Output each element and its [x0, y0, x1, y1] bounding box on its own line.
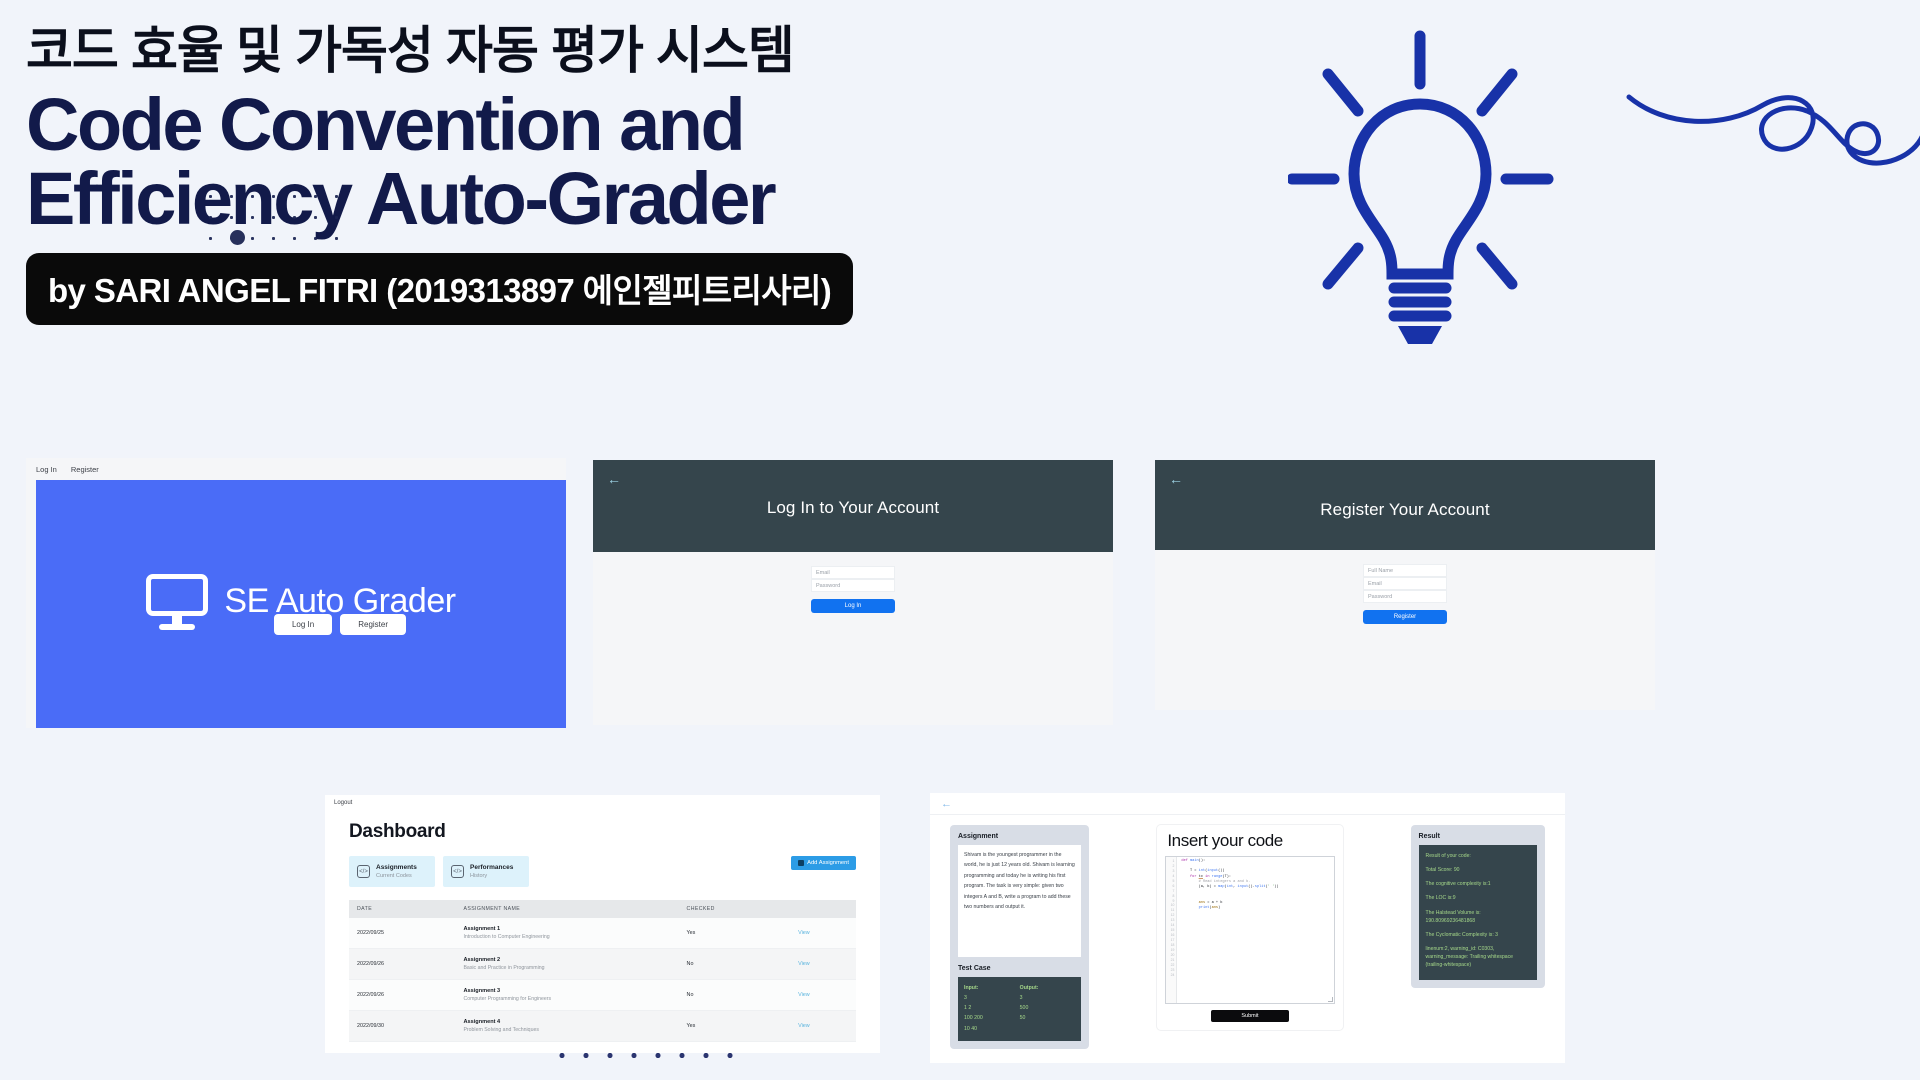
card-subtitle: History: [470, 873, 513, 879]
editor-topnav: ←: [930, 793, 1565, 815]
monitor-base: [159, 624, 195, 630]
view-link[interactable]: View: [798, 1023, 810, 1029]
english-title-line1: Code Convention and: [26, 85, 1246, 165]
result-total-score: Total Score: 90: [1426, 866, 1530, 874]
cell-action: View: [790, 918, 856, 949]
author-byline: by SARI ANGEL FITRI (2019313897 에인젤피트리사리…: [26, 253, 853, 325]
cell-checked: Yes: [679, 918, 791, 949]
assignments-table-head: DATE ASSIGNMENT NAME CHECKED: [349, 900, 856, 918]
arrow-left-icon[interactable]: ←: [607, 472, 621, 486]
cell-date: 2022/09/26: [349, 949, 455, 980]
code-content[interactable]: def main(): T = int(input()) for tc in r…: [1177, 857, 1333, 1003]
landing-topnav: Log In Register: [26, 458, 566, 480]
byline-wrapper: by SARI ANGEL FITRI (2019313897 에인젤피트리사리…: [26, 253, 1246, 325]
testcase-input-2: 100 200: [964, 1013, 1020, 1023]
assignment-name: Assignment 4: [463, 1019, 678, 1025]
register-password-field[interactable]: Password: [1363, 590, 1447, 603]
table-row[interactable]: 2022/09/25 Assignment 1 Introduction to …: [349, 918, 856, 949]
cell-name: Assignment 1 Introduction to Computer En…: [455, 918, 678, 949]
code-box-icon: </>: [357, 865, 370, 878]
cell-date: 2022/09/30: [349, 1011, 455, 1042]
dashboard-card-performances[interactable]: </> Performances History: [443, 856, 529, 887]
editor-columns: Assignment Shivam is the youngest progra…: [930, 815, 1565, 1049]
view-link[interactable]: View: [798, 961, 810, 967]
screenshot-code-editor-page: ← Assignment Shivam is the youngest prog…: [930, 793, 1565, 1063]
col-header-date: DATE: [349, 900, 455, 918]
monitor-icon: [146, 574, 208, 630]
result-warning: linenum:2, warning_id: C0303, warning_me…: [1426, 945, 1530, 969]
cell-name: Assignment 4 Problem Solving and Techniq…: [455, 1011, 678, 1042]
code-editor-card: Insert your code 1 2 3 4 5 6 7 8 9 10 11…: [1157, 825, 1342, 1030]
monitor-stand: [172, 616, 182, 624]
testcase-output-label: Output:: [1020, 983, 1076, 993]
plus-icon: [798, 860, 804, 866]
page-title: Dashboard: [349, 821, 856, 843]
landing-register-button[interactable]: Register: [340, 614, 406, 635]
register-fullname-field[interactable]: Full Name: [1363, 564, 1447, 577]
landing-login-button[interactable]: Log In: [274, 614, 332, 635]
screenshot-login-page: ← Log In to Your Account Email Password …: [593, 460, 1113, 725]
cell-action: View: [790, 1011, 856, 1042]
testcase-grid: Input: 3 1 2 100 200 10 40 Output: 3 500…: [964, 983, 1075, 1034]
testcase-output-0: 3: [1020, 993, 1076, 1003]
editor-right-column: Result Result of your code: Total Score:…: [1411, 825, 1545, 1049]
dashboard-card-assignments[interactable]: </> Assignments Current Codes: [349, 856, 435, 887]
card-subtitle: Current Codes: [376, 873, 417, 879]
landing-hero-buttons: Log In Register: [274, 614, 406, 635]
testcase-input-0: 3: [964, 993, 1020, 1003]
cell-checked: No: [679, 980, 791, 1011]
testcase-heading: Test Case: [958, 965, 1081, 972]
result-box: Result of your code: Total Score: 90 The…: [1419, 845, 1537, 980]
arrow-left-icon[interactable]: ←: [930, 793, 1565, 810]
code-line-numbers: 1 2 3 4 5 6 7 8 9 10 11 12 13 14 15 16 1…: [1166, 857, 1177, 1003]
landing-hero-inner: SE Auto Grader Log In Register: [146, 574, 455, 635]
col-header-name: ASSIGNMENT NAME: [455, 900, 678, 918]
cell-action: View: [790, 980, 856, 1011]
landing-nav-login[interactable]: Log In: [36, 465, 57, 474]
assignments-table: DATE ASSIGNMENT NAME CHECKED 2022/09/25 …: [349, 900, 856, 1042]
result-card: Result Result of your code: Total Score:…: [1411, 825, 1545, 988]
screenshot-dashboard-page: Logout Dashboard </> Assignments Current…: [325, 795, 880, 1053]
dashboard-logout-link[interactable]: Logout: [334, 800, 352, 806]
assignments-table-body: 2022/09/25 Assignment 1 Introduction to …: [349, 918, 856, 1042]
result-halstead-volume: The Halstead Volume is: 190.809692364818…: [1426, 909, 1530, 925]
monitor-screen: [146, 574, 208, 616]
login-header-bar: ← Log In to Your Account: [593, 460, 1113, 552]
screenshot-landing-page: Log In Register SE Auto Grader Log In Re…: [26, 458, 566, 728]
code-editor-area[interactable]: 1 2 3 4 5 6 7 8 9 10 11 12 13 14 15 16 1…: [1165, 856, 1334, 1004]
testcase-output-2: 50: [1020, 1013, 1076, 1023]
col-header-action: [790, 900, 856, 918]
card-title: Performances: [470, 864, 513, 871]
cell-checked: Yes: [679, 1011, 791, 1042]
code-box-icon: </>: [451, 865, 464, 878]
result-intro: Result of your code:: [1426, 852, 1530, 860]
cell-date: 2022/09/25: [349, 918, 455, 949]
landing-hero: SE Auto Grader Log In Register: [36, 480, 566, 728]
view-link[interactable]: View: [798, 930, 810, 936]
assignment-name: Assignment 2: [463, 957, 678, 963]
assignment-card: Assignment Shivam is the youngest progra…: [950, 825, 1089, 1049]
assignment-desc: Basic and Practice in Programming: [463, 965, 678, 971]
testcase-input-column: Input: 3 1 2 100 200 10 40: [964, 983, 1020, 1034]
login-email-field[interactable]: Email: [811, 566, 895, 579]
register-heading: Register Your Account: [1155, 460, 1655, 520]
testcase-box: Input: 3 1 2 100 200 10 40 Output: 3 500…: [958, 977, 1081, 1041]
card-title: Assignments: [376, 864, 417, 871]
code-editor-title: Insert your code: [1167, 831, 1334, 851]
result-heading: Result: [1419, 833, 1537, 840]
testcase-input-3: 10 40: [964, 1024, 1020, 1034]
cell-date: 2022/09/26: [349, 980, 455, 1011]
lightbulb-icon: [1288, 26, 1588, 361]
register-email-field[interactable]: Email: [1363, 577, 1447, 590]
assignment-desc: Problem Solving and Techniques: [463, 1027, 678, 1033]
editor-center-column: Insert your code 1 2 3 4 5 6 7 8 9 10 11…: [1157, 825, 1342, 1049]
testcase-output-column: Output: 3 500 50: [1020, 983, 1076, 1034]
dashboard-body: Dashboard </> Assignments Current Codes …: [325, 821, 880, 1042]
register-header-bar: ← Register Your Account: [1155, 460, 1655, 550]
add-assignment-label: Add Assignment: [807, 860, 849, 866]
col-header-checked: CHECKED: [679, 900, 791, 918]
accent-dot: [230, 230, 245, 245]
editor-left-column: Assignment Shivam is the youngest progra…: [950, 825, 1089, 1049]
resize-handle[interactable]: [1328, 997, 1333, 1002]
arrow-left-icon[interactable]: ←: [1169, 472, 1183, 486]
add-assignment-button[interactable]: Add Assignment: [791, 856, 856, 870]
dot-grid-decoration: [200, 186, 350, 248]
dashboard-cards: </> Assignments Current Codes </> Perfor…: [349, 856, 856, 887]
cell-name: Assignment 3 Computer Programming for En…: [455, 980, 678, 1011]
login-heading: Log In to Your Account: [593, 460, 1113, 518]
testcase-output-1: 500: [1020, 1003, 1076, 1013]
cell-checked: No: [679, 949, 791, 980]
screenshot-register-page: ← Register Your Account Full Name Email …: [1155, 460, 1655, 710]
table-row[interactable]: 2022/09/30 Assignment 4 Problem Solving …: [349, 1011, 856, 1042]
assignment-text-box: Shivam is the youngest programmer in the…: [958, 845, 1081, 957]
register-form: Full Name Email Password Register: [1363, 564, 1447, 624]
result-cyclomatic-complexity: The Cyclomatic Complexity is: 3: [1426, 931, 1530, 939]
register-submit-button[interactable]: Register: [1363, 610, 1447, 624]
testcase-input-1: 1 2: [964, 1003, 1020, 1013]
cell-name: Assignment 2 Basic and Practice in Progr…: [455, 949, 678, 980]
assignment-desc: Computer Programming for Engineers: [463, 996, 678, 1002]
login-form: Email Password Log In: [811, 566, 895, 613]
assignment-name: Assignment 1: [463, 926, 678, 932]
assignment-text: Shivam is the youngest programmer in the…: [964, 850, 1075, 912]
poster-header: 코드 효율 및 가독성 자동 평가 시스템 Code Convention an…: [26, 22, 1246, 325]
view-link[interactable]: View: [798, 992, 810, 998]
login-submit-button[interactable]: Log In: [811, 599, 895, 613]
result-cognitive-complexity: The cognitive complexity is:1: [1426, 880, 1530, 888]
poster-canvas: 코드 효율 및 가독성 자동 평가 시스템 Code Convention an…: [0, 0, 1920, 1080]
testcase-input-label: Input:: [964, 983, 1020, 993]
korean-title: 코드 효율 및 가독성 자동 평가 시스템: [26, 22, 1246, 79]
assignment-desc: Introduction to Computer Engineering: [463, 934, 678, 940]
swirl-decoration: [1625, 85, 1920, 220]
dashboard-topnav: Logout: [325, 795, 880, 813]
result-loc: The LOC is:9: [1426, 894, 1530, 902]
table-row[interactable]: 2022/09/26 Assignment 2 Basic and Practi…: [349, 949, 856, 980]
assignment-heading: Assignment: [958, 833, 1081, 840]
table-header-row: DATE ASSIGNMENT NAME CHECKED: [349, 900, 856, 918]
cell-action: View: [790, 949, 856, 980]
assignment-name: Assignment 3: [463, 988, 678, 994]
landing-nav-register[interactable]: Register: [71, 465, 99, 474]
submit-button[interactable]: Submit: [1211, 1010, 1289, 1022]
table-row[interactable]: 2022/09/26 Assignment 3 Computer Program…: [349, 980, 856, 1011]
login-password-field[interactable]: Password: [811, 579, 895, 592]
